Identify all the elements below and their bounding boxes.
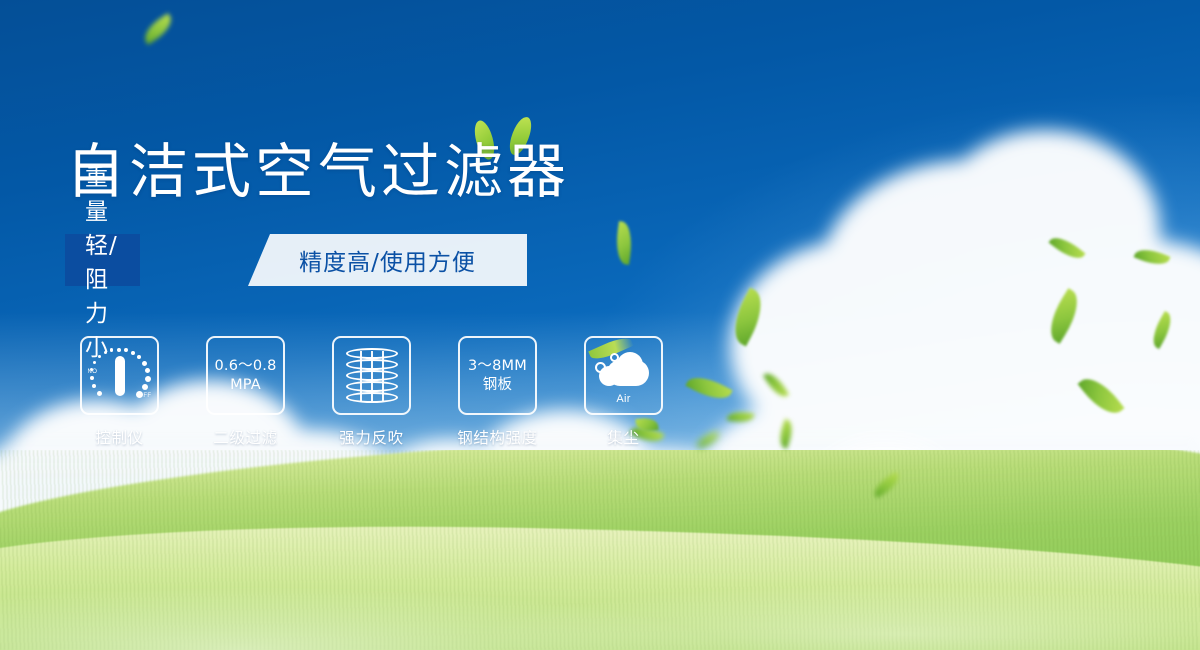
steel-thickness-line: 3～8MM	[468, 357, 527, 375]
air-label: Air	[593, 393, 655, 405]
subtitle-secondary: 精度高/使用方便	[248, 234, 527, 286]
feature-label: 钢结构强度	[457, 426, 538, 448]
gauge-no-label: NO	[88, 369, 98, 375]
air-cloud-icon: Air	[593, 350, 655, 402]
feature-icon-box: Air	[584, 336, 663, 415]
feature-label: 控制仪	[95, 426, 143, 448]
feature-list: NO OFF 控制仪 0.6～0.8 MPA 二级过滤	[80, 336, 663, 448]
banner-content: 自洁式空气过滤器 重量轻/阻力小 精度高/使用方便	[0, 0, 1200, 650]
gauge-off-label: OFF	[138, 393, 151, 399]
pressure-range-line: 0.6～0.8	[214, 357, 276, 375]
feature-item-dust-collection[interactable]: Air 集尘	[584, 336, 663, 448]
feature-label: 强力反吹	[339, 426, 403, 448]
steel-plate-text-icon: 3～8MM 钢板	[468, 357, 527, 393]
feature-item-blowback[interactable]: 强力反吹	[332, 336, 411, 448]
feature-icon-box	[332, 336, 411, 415]
feature-icon-box: NO OFF	[80, 336, 159, 415]
feature-icon-box: 0.6～0.8 MPA	[206, 336, 285, 415]
pressure-text-icon: 0.6～0.8 MPA	[214, 357, 276, 393]
feature-item-controller[interactable]: NO OFF 控制仪	[80, 336, 159, 448]
feature-item-steel-strength[interactable]: 3～8MM 钢板 钢结构强度	[458, 336, 537, 448]
feature-icon-box: 3～8MM 钢板	[458, 336, 537, 415]
gauge-needle	[115, 356, 125, 396]
page-title: 自洁式空气过滤器	[66, 142, 570, 201]
filter-stack-icon	[346, 348, 398, 404]
gauge-dial-icon: NO OFF	[89, 347, 151, 405]
steel-plate-line: 钢板	[468, 376, 527, 394]
pressure-unit-line: MPA	[214, 376, 276, 394]
feature-label: 二级过滤	[213, 426, 277, 448]
feature-label: 集尘	[607, 426, 639, 448]
feature-item-two-stage-filter[interactable]: 0.6～0.8 MPA 二级过滤	[206, 336, 285, 448]
subtitle-primary: 重量轻/阻力小	[65, 234, 140, 286]
promo-banner: 自洁式空气过滤器 重量轻/阻力小 精度高/使用方便	[0, 0, 1200, 650]
